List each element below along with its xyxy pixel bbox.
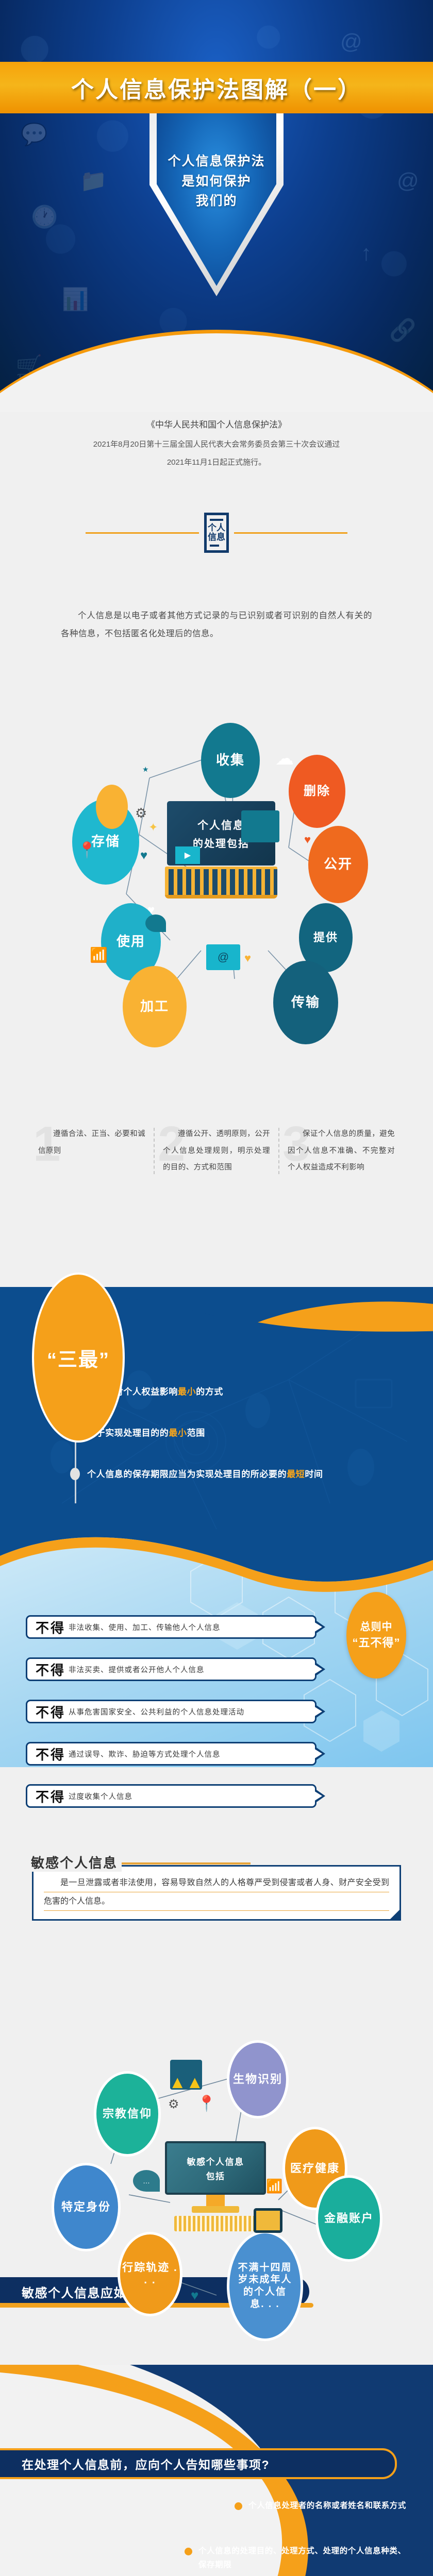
speech-bubble-icon	[241, 810, 279, 842]
sensitive-diagram: 生物识别 宗教信仰 医疗健康 特定身份 金融账户 行踪轨迹 . . . 不满十四…	[0, 1994, 433, 2324]
notify-heading: 在处理个人信息前，应向个人告知哪些事项?	[22, 2455, 270, 2472]
sensitive-definition-text: 是一旦泄露或者非法使用，容易导致自然人的人格尊严受到侵害或者人身、财产安全受到危…	[44, 1874, 389, 1911]
principle-text-3: 保证个人信息的质量，避免因个人信息不准确、不完整对个人权益造成不利影响	[288, 1126, 395, 1176]
wifi-icon: 📶	[90, 946, 108, 963]
five-bans-badge-line1: 总则中	[360, 1621, 393, 1633]
tm1-hl: 最小	[178, 1387, 196, 1397]
five-bans-badge: 总则中 “五不得”	[346, 1592, 406, 1679]
chat-icon: 💬	[21, 124, 47, 145]
sensitive-definition-box: 是一旦泄露或者非法使用，容易导致自然人的人格尊严受到侵害或者人身、财产安全受到危…	[32, 1865, 401, 1921]
principle-text-2: 遵循公开、透明原则，公开个人信息处理规则，明示处理的目的、方式和范围	[163, 1126, 270, 1176]
page-title: 个人信息保护法图解（一）	[71, 71, 362, 104]
five-bans-list: 不得 非法收集、使用、加工、传输他人个人信息 不得 非法买卖、提供或者公开他人个…	[0, 1615, 345, 1808]
three-most-badge: “三最”	[32, 1273, 125, 1443]
notify-header-bar: 在处理个人信息前，应向个人告知哪些事项?	[0, 2448, 397, 2479]
at2-icon: @	[340, 31, 362, 53]
principle-column-2: 2 遵循公开、透明原则，公开个人信息处理规则，明示处理的目的、方式和范围	[155, 1126, 278, 1176]
bubble-financial: 金融账户	[315, 2175, 382, 2262]
wave-divider-2	[0, 1535, 433, 1592]
notify-text-2: 个人信息的处理目的、处理方式、处理的个人信息种类、保存期限	[198, 2544, 406, 2572]
bubble-transmit: 传输	[273, 961, 338, 1044]
principle-column-3: 3 保证个人信息的质量，避免因个人信息不准确、不完整对个人权益造成不利影响	[279, 1126, 403, 1176]
bubble-medical-label: 医疗健康	[290, 2162, 340, 2175]
tm1-post: 的方式	[196, 1387, 223, 1397]
bubble-collect: 收集	[201, 723, 260, 798]
bubble-financial-label: 金融账户	[324, 2212, 374, 2225]
notify-text-1: 个人信息处理者的名称或者姓名和联系方式	[248, 2499, 406, 2513]
arrow-up-icon: ↑	[361, 242, 372, 264]
tm3-hl: 最短	[287, 1469, 305, 1479]
bubble-trajectory-label: 行踪轨迹 . . .	[120, 2262, 180, 2286]
shield-line-3: 我们的	[195, 191, 237, 211]
notify-dot-2	[185, 2548, 192, 2555]
box-corner-fold	[390, 1910, 399, 1919]
ban-item-5: 不得 过度收集个人信息	[26, 1784, 317, 1808]
yellow-oval-deco	[96, 785, 128, 829]
law-passed: 2021年8月20日第十三届全国人民代表大会常务委员会第三十次会议通过	[21, 435, 412, 453]
infographic-page: 💬 🕐 📊 🛒 ⚙ @ ↑ 🔗 🌎 ☷ @ 📁 个人信息保护法 是如何保护 我们…	[0, 0, 433, 2576]
bubble-trajectory: 行踪轨迹 . . .	[118, 2232, 182, 2316]
document-icon: 个人 信息	[204, 513, 229, 553]
location-pin-icon: 📍	[77, 841, 96, 859]
bubble-biometric: 生物识别	[227, 2040, 289, 2119]
chat-dots-icon: …	[133, 2170, 160, 2192]
processing-diagram: 收集 删除 存储 公开 使用 提供 加工 传输 个人信息 的处理包括 📍 ♥ ▶…	[0, 698, 433, 1048]
gears-icon: ⚙	[168, 2097, 179, 2112]
main-title-band: 个人信息保护法图解（一）	[0, 62, 433, 113]
law-citation: 《中华人民共和国个人信息保护法》 2021年8月20日第十三届全国人民代表大会常…	[0, 415, 433, 471]
notify-item-1: 个人信息处理者的名称或者姓名和联系方式	[190, 2499, 406, 2513]
sensitive-title: 敏感个人信息	[27, 1853, 122, 1872]
shield-line-1: 个人信息保护法	[168, 151, 265, 172]
mail-icon: @	[206, 944, 240, 970]
three-most-item-2: 限于实现处理目的的最小范围	[70, 1425, 400, 1442]
shield-graphic: 个人信息保护法 是如何保护 我们的	[149, 90, 284, 296]
folder-icon: 📁	[80, 170, 107, 192]
definition-header: 个人 信息	[0, 513, 433, 553]
notify-dot-1	[235, 2502, 242, 2510]
heart-icon: ♥	[140, 849, 147, 863]
ban-prefix-4: 不得	[36, 1744, 65, 1764]
shield-inner: 个人信息保护法 是如何保护 我们的	[157, 97, 276, 286]
bubble-biometric-label: 生物识别	[233, 2073, 282, 2086]
principles-columns: 1 遵循合法、正当、必要和诚信原则 2 遵循公开、透明原则，公开个人信息处理规则…	[0, 1126, 433, 1176]
monitor-stand	[192, 2206, 239, 2213]
bubble-identity: 特定身份	[52, 2163, 121, 2251]
sparkle-icon: ✦	[148, 821, 158, 834]
sensitive-center-1: 敏感个人信息	[187, 2155, 244, 2167]
ban-text-2: 非法买卖、提供或者公开他人个人信息	[69, 1664, 205, 1675]
cloud-icon: ☁	[275, 748, 294, 769]
bubble-identity-label: 特定身份	[61, 2200, 111, 2213]
play-icon: ▶	[175, 846, 200, 864]
principle-column-1: 1 遵循合法、正当、必要和诚信原则	[30, 1126, 154, 1176]
tm3-pre: 个人信息的保存期限应当为实现处理目的所必要的	[87, 1469, 287, 1479]
ban-item-1: 不得 非法收集、使用、加工、传输他人个人信息	[26, 1615, 317, 1639]
sensitive-box-wrap: 是一旦泄露或者非法使用，容易导致自然人的人格尊严受到侵害或者人身、财产安全受到危…	[0, 1865, 433, 1921]
ban-item-2: 不得 非法买卖、提供或者公开他人个人信息	[26, 1657, 317, 1681]
bubble-delete: 删除	[289, 755, 345, 828]
ban-prefix-1: 不得	[36, 1618, 65, 1637]
monitor-graphic: 敏感个人信息 包括	[164, 2141, 267, 2239]
phone-icon	[254, 2208, 282, 2233]
heart2-icon: ♥	[304, 833, 311, 846]
heart3-icon: ♥	[147, 903, 155, 918]
monitor-neck	[206, 2195, 225, 2206]
law-name: 《中华人民共和国个人信息保护法》	[21, 415, 412, 435]
ban-item-4: 不得 通过误导、欺诈、胁迫等方式处理个人信息	[26, 1742, 317, 1766]
laptop-keyboard	[165, 867, 277, 899]
doc-label-1: 个人	[208, 523, 225, 533]
tm2-hl: 最小	[169, 1428, 187, 1438]
principle-text-1: 遵循合法、正当、必要和诚信原则	[38, 1126, 145, 1159]
keyboard-graphic	[174, 2216, 257, 2231]
three-most-badge-label: “三最”	[47, 1344, 110, 1372]
notify-item-2: 个人信息的处理目的、处理方式、处理的个人信息种类、保存期限	[185, 2544, 406, 2572]
definition-paragraph: 个人信息是以电子或者其他方式记录的与已识别或者可识别的自然人有关的各种信息，不包…	[61, 607, 372, 643]
clock-icon: 🕐	[31, 206, 58, 228]
rule-right	[234, 532, 347, 534]
ban-text-4: 通过误导、欺诈、胁迫等方式处理个人信息	[69, 1749, 221, 1759]
monitor-screen: 敏感个人信息 包括	[165, 2141, 266, 2195]
heart5-icon: ♥	[191, 2287, 198, 2303]
definition-text-block: 个人信息是以电子或者其他方式记录的与已识别或者可识别的自然人有关的各种信息，不包…	[0, 607, 433, 643]
bubble-process: 加工	[123, 966, 187, 1047]
ban-prefix-2: 不得	[36, 1660, 65, 1679]
ban-prefix-3: 不得	[36, 1702, 65, 1721]
heart4-icon: ♥	[244, 952, 251, 965]
ban-prefix-5: 不得	[36, 1787, 65, 1806]
center-label-1: 个人信息	[197, 817, 245, 833]
five-bans-badge-line2: “五不得”	[352, 1636, 400, 1650]
law-effective: 2021年11月1日起正式施行。	[21, 453, 412, 471]
link-icon: 🔗	[389, 319, 416, 341]
ban-text-1: 非法收集、使用、加工、传输他人个人信息	[69, 1622, 221, 1633]
bubble-minor: 不满十四周岁未成年人的个人信息. . .	[227, 2231, 303, 2341]
star-icon: ★	[142, 765, 149, 774]
tm2-post: 范围	[187, 1428, 205, 1438]
bubble-religion: 宗教信仰	[94, 2071, 161, 2157]
pin-icon: 📍	[197, 2095, 216, 2113]
sensitive-center-2: 包括	[206, 2169, 225, 2182]
gear2-icon: ⚙	[135, 805, 147, 821]
shield-line-2: 是如何保护	[181, 172, 251, 192]
chart-icon: 📊	[62, 289, 89, 310]
bullet-dot-3	[70, 1468, 80, 1480]
hero-banner: 💬 🕐 📊 🛒 ⚙ @ ↑ 🔗 🌎 ☷ @ 📁 个人信息保护法 是如何保护 我们…	[0, 0, 433, 412]
image-icon: ▲▲	[170, 2060, 202, 2090]
doc-label-2: 信息	[208, 533, 225, 542]
tm3-post: 时间	[305, 1469, 323, 1479]
wifi2-icon: 📶	[266, 2178, 282, 2194]
bubble-minor-label: 不满十四周岁未成年人的个人信息. . .	[237, 2262, 293, 2311]
ban-item-3: 不得 从事危害国家安全、公共利益的个人信息处理活动	[26, 1700, 317, 1723]
bubble-religion-label: 宗教信仰	[103, 2107, 152, 2120]
bubble-publish: 公开	[308, 826, 368, 903]
rule-left	[86, 532, 199, 534]
ban-text-3: 从事危害国家安全、公共利益的个人信息处理活动	[69, 1706, 244, 1717]
ban-text-5: 过度收集个人信息	[69, 1791, 132, 1802]
at-icon: @	[397, 170, 419, 192]
three-most-item-3: 个人信息的保存期限应当为实现处理目的所必要的最短时间	[70, 1466, 359, 1483]
